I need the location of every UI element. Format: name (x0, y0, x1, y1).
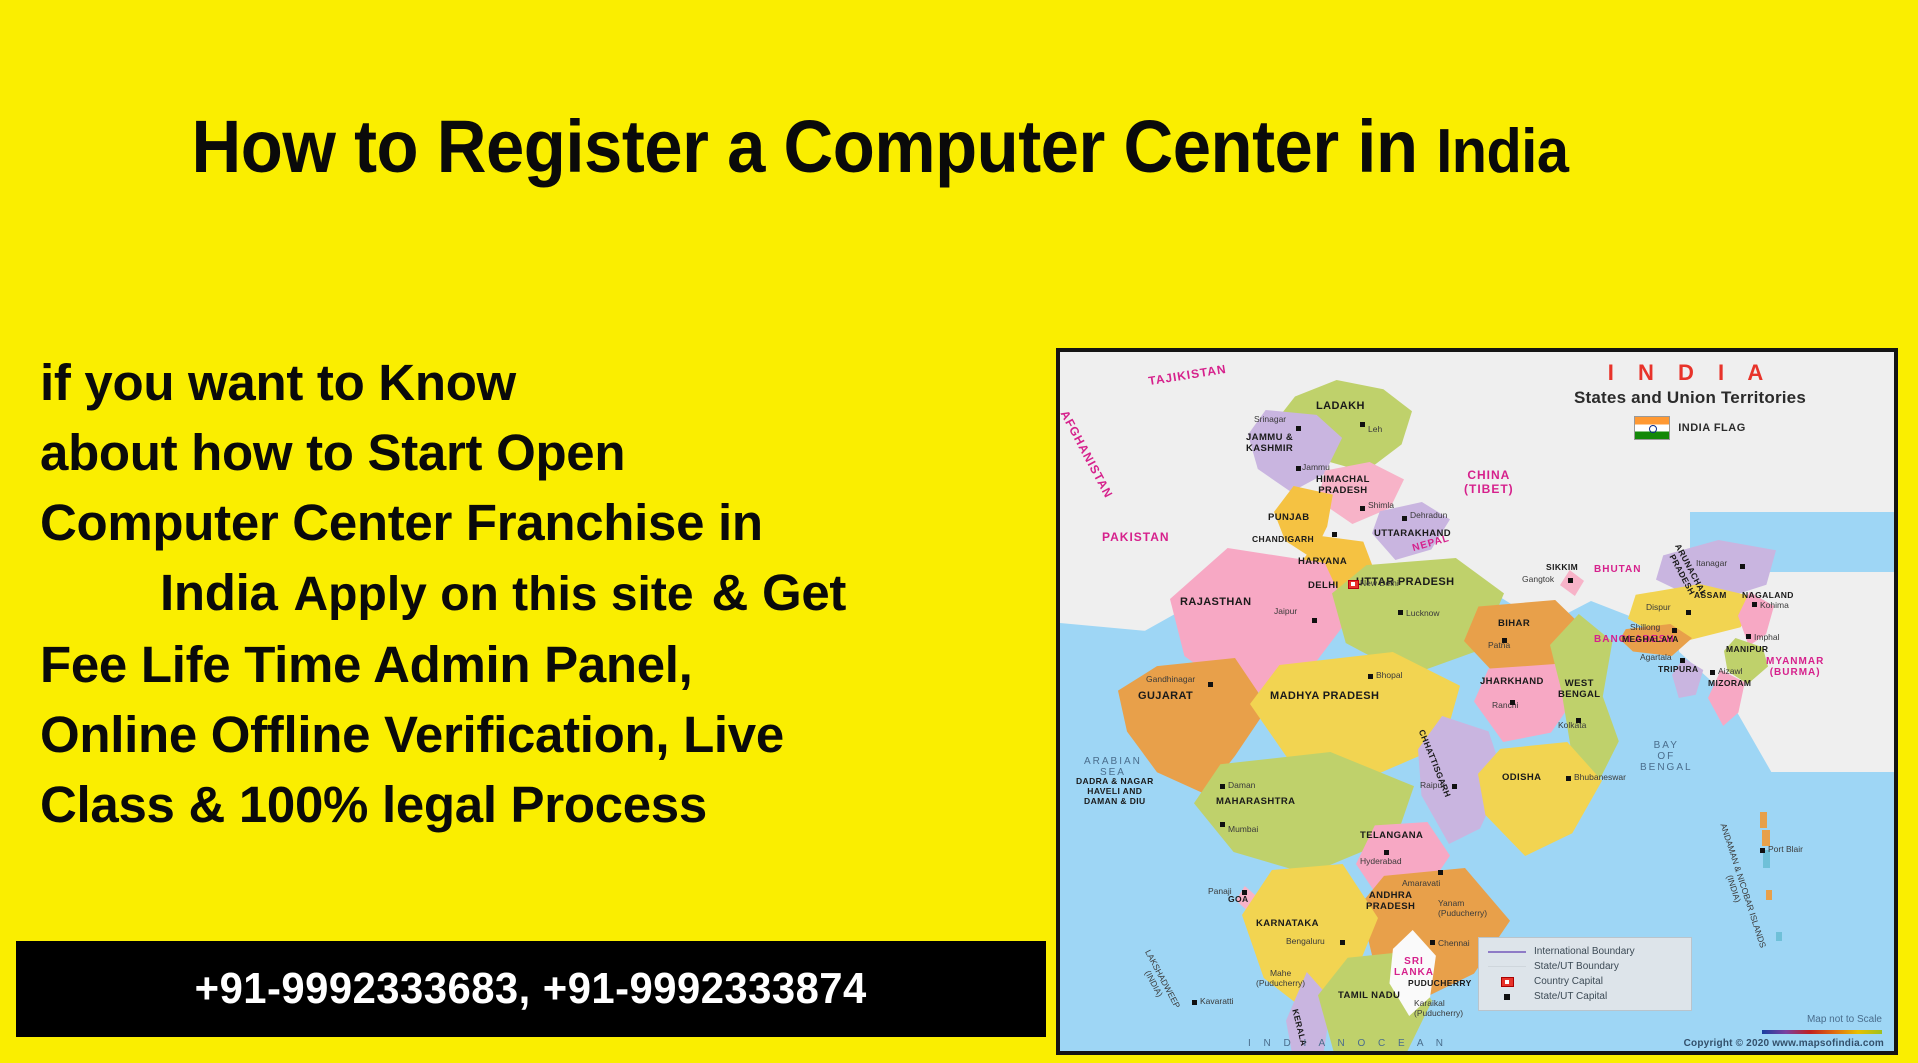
legend-label-state-capital: State/UT Capital (1534, 991, 1607, 1002)
capital-marker-kolkata (1576, 718, 1581, 723)
map-subtitle: States and Union Territories (1490, 388, 1890, 408)
india-map-image: I N D I A States and Union Territories I… (1056, 348, 1898, 1055)
capital-marker-jammu (1296, 466, 1301, 471)
capital-marker-raipur (1452, 784, 1457, 789)
mapsofindia-rainbow-bar (1762, 1030, 1882, 1034)
country-label-tajikistan: TAJIKISTAN (1147, 362, 1227, 388)
island-dot-nicobar-b (1776, 932, 1782, 941)
map-legend: International Boundary State/UT Boundary… (1478, 937, 1692, 1011)
legend-row-international-boundary: International Boundary (1487, 944, 1683, 959)
promo-line-1: if you want to Know (40, 348, 1050, 418)
capital-marker-daman (1220, 784, 1225, 789)
capital-marker-itanagar (1740, 564, 1745, 569)
promo-copy-block: if you want to Know about how to Start O… (40, 348, 1050, 840)
capital-marker-dispur (1686, 610, 1691, 615)
promo-line-4: Fee Life Time Admin Panel, (40, 630, 1050, 700)
promo-india-word: India (160, 564, 278, 621)
capital-marker-dehradun (1402, 516, 1407, 521)
poster-canvas: How to Register a Computer Center in Ind… (0, 0, 1918, 1063)
india-flag-label: INDIA FLAG (1678, 422, 1746, 434)
capital-marker-bhubaneswar (1566, 776, 1571, 781)
capital-marker-ranchi (1510, 700, 1515, 705)
map-canvas: I N D I A States and Union Territories I… (1060, 352, 1894, 1051)
promo-get-word: & Get (704, 564, 847, 621)
map-title-india: I N D I A (1490, 360, 1890, 386)
capital-marker-shillong (1672, 628, 1677, 633)
page-title-main: How to Register a Computer Center in (192, 105, 1437, 188)
island-dot-andaman-b (1762, 830, 1770, 846)
map-scale-note: Map not to Scale (1807, 1014, 1882, 1025)
legend-label-country-capital: Country Capital (1534, 976, 1603, 987)
capital-marker-chennai (1430, 940, 1435, 945)
capital-marker-chandigarh (1332, 532, 1337, 537)
capital-marker-jaipur (1312, 618, 1317, 623)
phone-contact-banner[interactable]: +91-9992333683, +91-9992333874 (16, 941, 1046, 1037)
capital-marker-leh (1360, 422, 1365, 427)
international-boundary-line-icon (1487, 951, 1527, 953)
capital-marker-mumbai (1220, 822, 1225, 827)
capital-marker-srinagar (1296, 426, 1301, 431)
map-copyright: Copyright © 2020 www.mapsofindia.com (1684, 1038, 1884, 1049)
map-title-block: I N D I A States and Union Territories I… (1490, 360, 1890, 440)
legend-row-country-capital: Country Capital (1487, 974, 1683, 989)
capital-marker-kohima (1752, 602, 1757, 607)
state-ut-capital-marker-icon (1487, 994, 1527, 1000)
state-ut-boundary-line-icon (1487, 966, 1527, 967)
capital-marker-amaravati (1438, 870, 1443, 875)
legend-label-state-boundary: State/UT Boundary (1534, 961, 1619, 972)
capital-marker-hyderabad (1384, 850, 1389, 855)
capital-marker-port-blair (1760, 848, 1765, 853)
promo-line-mixed: IndiaApply on this site& Get (40, 558, 1050, 630)
capital-marker-shimla (1360, 506, 1365, 511)
capital-marker-lucknow (1398, 610, 1403, 615)
page-title: How to Register a Computer Center in Ind… (62, 108, 1699, 191)
capital-marker-bengaluru (1340, 940, 1345, 945)
country-label-afghanistan: AFGHANISTAN (1058, 408, 1116, 501)
promo-line-3: Computer Center Franchise in (40, 488, 1050, 558)
island-dot-nicobar-a (1766, 890, 1772, 900)
page-title-tail: India (1436, 117, 1568, 186)
capital-marker-gangtok (1568, 578, 1573, 583)
country-capital-marker-new-delhi (1348, 580, 1359, 589)
country-capital-marker-icon (1487, 977, 1527, 987)
capital-marker-gandhinagar (1208, 682, 1213, 687)
capital-marker-patna (1502, 638, 1507, 643)
legend-row-state-boundary: State/UT Boundary (1487, 959, 1683, 974)
island-dot-andaman-a (1760, 812, 1767, 828)
capital-marker-bhopal (1368, 674, 1373, 679)
promo-line-2: about how to Start Open (40, 418, 1050, 488)
map-flag-row: INDIA FLAG (1490, 416, 1890, 440)
promo-line-6: Class & 100% legal Process (40, 770, 1050, 840)
promo-line-5: Online Offline Verification, Live (40, 700, 1050, 770)
country-label-china-tibet: CHINA (TIBET) (1464, 468, 1514, 496)
capital-marker-agartala (1680, 658, 1685, 663)
capital-marker-aizawl (1710, 670, 1715, 675)
capital-marker-kavaratti (1192, 1000, 1197, 1005)
capital-marker-panaji (1242, 890, 1247, 895)
legend-label-international-boundary: International Boundary (1534, 946, 1635, 957)
legend-row-state-capital: State/UT Capital (1487, 989, 1683, 1004)
phone-numbers-text: +91-9992333683, +91-9992333874 (195, 964, 867, 1014)
apply-call-to-action[interactable]: Apply on this site (278, 568, 704, 621)
capital-marker-imphal (1746, 634, 1751, 639)
india-flag-icon (1634, 416, 1670, 440)
